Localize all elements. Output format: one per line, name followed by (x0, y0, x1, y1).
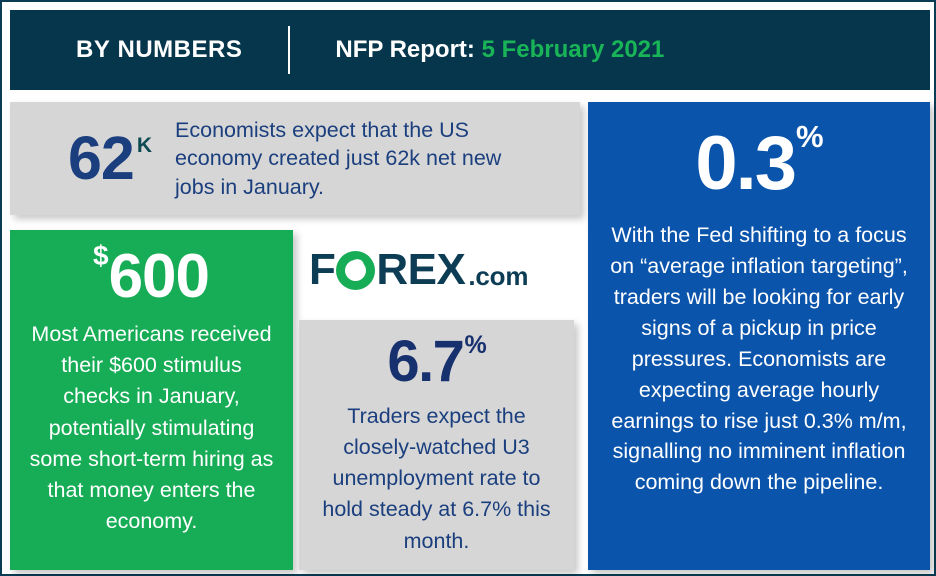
header-report: NFP Report: 5 February 2021 (335, 36, 664, 64)
stat-stimulus-value: 600 (109, 242, 209, 311)
stat-earnings-value: 0.3 (695, 121, 795, 206)
header-bar: BY NUMBERS NFP Report: 5 February 2021 (10, 10, 930, 90)
panel-stimulus: $600 Most Americans received their $600 … (10, 230, 293, 570)
forex-logo-rex: REX (376, 248, 465, 292)
stat-unemployment-body: Traders expect the closely-watched U3 un… (313, 401, 560, 557)
stat-stimulus-currency: $ (93, 240, 108, 271)
stat-earnings-unit: % (796, 119, 824, 154)
forex-logo-dotcom: .com (468, 263, 528, 292)
stat-earnings-number: 0.3% (588, 124, 930, 204)
euro-circle-icon: € (336, 251, 375, 290)
panel-earnings: 0.3% With the Fed shifting to a focus on… (588, 102, 930, 570)
stat-jobs-unit: K (137, 134, 152, 157)
forex-logo: F € REX .com (309, 242, 571, 298)
forex-logo-wordmark: F € REX .com (309, 248, 528, 292)
header-divider (288, 26, 290, 74)
stat-unemployment-unit: % (464, 331, 486, 359)
header-report-label: NFP Report: (335, 36, 475, 63)
header-numbers-label: NUMBERS (118, 36, 243, 63)
infographic-root: BY NUMBERS NFP Report: 5 February 2021 6… (0, 0, 936, 576)
stat-jobs-value: 62 (68, 124, 134, 192)
panel-unemployment: 6.7% Traders expect the closely-watched … (299, 320, 574, 570)
header-by-label: BY (76, 36, 110, 63)
stat-unemployment-value: 6.7 (387, 329, 463, 394)
stat-jobs-number: 62K (68, 128, 149, 189)
stat-unemployment-number: 6.7% (299, 332, 574, 393)
header-by-numbers: BY NUMBERS (76, 36, 242, 64)
stat-stimulus-number: $600 (10, 244, 293, 309)
stat-stimulus-body: Most Americans received their $600 stimu… (26, 319, 277, 537)
panel-jobs: 62K Economists expect that the US econom… (10, 102, 580, 215)
stat-jobs-body: Economists expect that the US economy cr… (175, 116, 525, 202)
forex-logo-f: F (309, 248, 335, 292)
euro-glyph: € (336, 251, 375, 290)
stat-earnings-body: With the Fed shifting to a focus on “ave… (604, 220, 914, 499)
header-report-date: 5 February 2021 (482, 36, 665, 63)
